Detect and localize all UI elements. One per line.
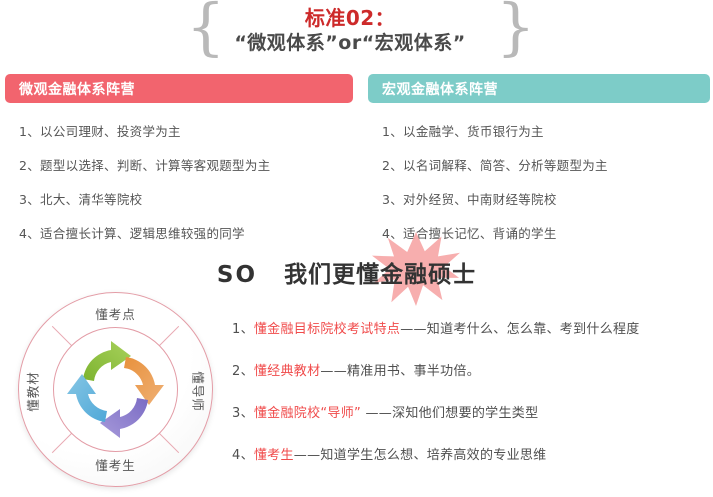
circle-label-right: 懂导师	[190, 362, 209, 422]
point-highlight: 懂金融院校“导师”	[254, 406, 361, 421]
point-number: 4、	[232, 448, 254, 463]
list-item: 1、以金融学、货币银行为主	[368, 121, 710, 140]
list-item: 4、适合擅长记忆、背诵的学生	[368, 223, 710, 242]
so-section-title: SO 我们更懂金融硕士	[0, 255, 713, 289]
point-highlight: 懂考生	[254, 448, 294, 463]
point-highlight: 懂经典教材	[254, 364, 321, 379]
points-list: 1、懂金融目标院校考试特点——知道考什么、怎么靠、考到什么程度 2、懂经典教材—…	[232, 318, 707, 486]
point-number: 1、	[232, 322, 254, 337]
list-item: 1、以公司理财、投资学为主	[5, 121, 353, 140]
camp-header-macro: 宏观金融体系阵营	[368, 74, 710, 103]
point-rest: ——知道考什么、怎么靠、考到什么程度	[400, 322, 639, 337]
point-number: 3、	[232, 406, 254, 421]
list-item: 1、懂金融目标院校考试特点——知道考什么、怎么靠、考到什么程度	[232, 318, 707, 337]
list-item: 3、懂金融院校“导师” ——深知他们想要的学生类型	[232, 402, 707, 421]
point-number: 2、	[232, 364, 254, 379]
point-rest: ——精准用书、事半功倍。	[320, 364, 480, 379]
circle-label-top: 懂考点	[18, 304, 213, 323]
circle-label-left: 懂教材	[23, 362, 42, 422]
circle-diagram: 懂考点 懂导师 懂考生 懂教材	[18, 292, 213, 487]
so-prefix: SO	[217, 262, 257, 288]
list-item: 2、以名词解释、简答、分析等题型为主	[368, 155, 710, 174]
camp-column-macro: 宏观金融体系阵营 1、以金融学、货币银行为主 2、以名词解释、简答、分析等题型为…	[368, 74, 710, 242]
page-subtitle: “微观体系”or“宏观体系”	[185, 28, 515, 55]
header-banner: { } 标准02： “微观体系”or“宏观体系”	[0, 0, 713, 62]
page-title: 标准02：	[185, 2, 515, 31]
list-item: 3、北大、清华等院校	[5, 189, 353, 208]
camp-header-micro: 微观金融体系阵营	[5, 74, 353, 103]
list-item: 4、懂考生——知道学生怎么想、培养高效的专业思维	[232, 444, 707, 463]
circle-label-bottom: 懂考生	[18, 455, 213, 474]
list-item: 2、懂经典教材——精准用书、事半功倍。	[232, 360, 707, 379]
camp-list-macro: 1、以金融学、货币银行为主 2、以名词解释、简答、分析等题型为主 3、对外经贸、…	[368, 121, 710, 242]
cycle-arrows-icon	[63, 337, 168, 442]
list-item: 3、对外经贸、中南财经等院校	[368, 189, 710, 208]
point-rest: ——深知他们想要的学生类型	[361, 406, 538, 421]
so-title-text: 我们更懂金融硕士	[284, 262, 476, 288]
list-item: 2、题型以选择、判断、计算等客观题型为主	[5, 155, 353, 174]
camp-list-micro: 1、以公司理财、投资学为主 2、题型以选择、判断、计算等客观题型为主 3、北大、…	[5, 121, 353, 242]
camp-column-micro: 微观金融体系阵营 1、以公司理财、投资学为主 2、题型以选择、判断、计算等客观题…	[5, 74, 353, 242]
point-highlight: 懂金融目标院校考试特点	[254, 322, 400, 337]
point-rest: ——知道学生怎么想、培养高效的专业思维	[294, 448, 547, 463]
list-item: 4、适合擅长计算、逻辑思维较强的同学	[5, 223, 353, 242]
